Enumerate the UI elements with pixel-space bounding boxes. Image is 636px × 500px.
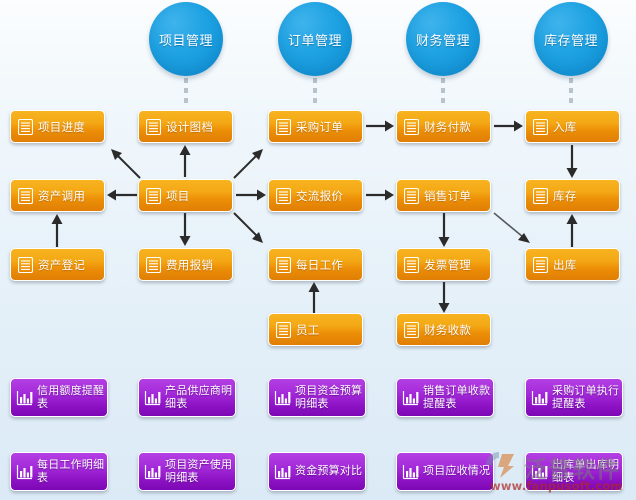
node-label: 资产调用 — [38, 188, 85, 204]
arrow-project-to-purchase — [234, 146, 266, 178]
bar-chart-icon — [402, 390, 419, 406]
node-project[interactable]: 项目 — [138, 179, 233, 212]
node-label: 项目进度 — [38, 119, 85, 135]
module-circle-label: 订单管理 — [288, 30, 342, 49]
document-icon — [276, 188, 291, 204]
node-label: 费用报销 — [166, 257, 213, 273]
document-icon — [404, 257, 419, 273]
report-product-supplier-detail[interactable]: 产品供应商明细表 — [138, 378, 236, 417]
document-icon — [404, 119, 419, 135]
report-daily-work-detail[interactable]: 每日工作明细表 — [10, 452, 108, 491]
node-employee[interactable]: 员工 — [268, 313, 363, 346]
bar-chart-icon — [531, 390, 548, 406]
arrow-assetreg-to-assetuse — [50, 214, 64, 247]
document-icon — [404, 188, 419, 204]
report-label: 采购订单执行提醒表 — [552, 385, 622, 410]
dotted-connector-4 — [569, 78, 573, 108]
report-purchase-order-execution-reminder[interactable]: 采购订单执行提醒表 — [525, 378, 623, 417]
module-circle-order[interactable]: 订单管理 — [278, 2, 352, 76]
node-purchase-order[interactable]: 采购订单 — [268, 110, 363, 143]
node-label: 财务付款 — [424, 119, 471, 135]
report-project-asset-usage-detail[interactable]: 项目资产使用明细表 — [138, 452, 236, 491]
arrow-employee-to-dailywork — [307, 282, 321, 313]
node-label: 库存 — [553, 188, 577, 204]
module-circle-finance[interactable]: 财务管理 — [406, 2, 480, 76]
node-label: 采购订单 — [296, 119, 343, 135]
document-icon — [18, 119, 33, 135]
node-label: 发票管理 — [424, 257, 471, 273]
arrow-project-to-assetuse — [107, 188, 137, 202]
report-fund-budget-comparison[interactable]: 资金预算对比 — [268, 452, 366, 491]
arrow-outbound-to-stock — [565, 214, 579, 247]
arrow-project-to-progress — [108, 146, 140, 178]
node-sales-order[interactable]: 销售订单 — [396, 179, 491, 212]
report-label: 信用额度提醒表 — [37, 385, 107, 410]
report-label: 产品供应商明细表 — [165, 385, 235, 410]
node-label: 每日工作 — [296, 257, 343, 273]
bar-chart-icon — [531, 464, 548, 480]
report-label: 项目应收情况 — [423, 465, 493, 478]
document-icon — [18, 188, 33, 204]
report-label: 资金预算对比 — [295, 465, 365, 478]
arrow-salesorder-to-invoice — [437, 213, 451, 247]
dotted-connector-3 — [441, 78, 445, 108]
bar-chart-icon — [274, 390, 291, 406]
bar-chart-icon — [16, 390, 33, 406]
node-stock[interactable]: 库存 — [525, 179, 620, 212]
arrow-project-to-expense — [178, 213, 192, 246]
bar-chart-icon — [402, 464, 419, 480]
bar-chart-icon — [144, 390, 161, 406]
report-sales-order-receipt-reminder[interactable]: 销售订单收款提醒表 — [396, 378, 494, 417]
report-label: 出库单出库明细表 — [552, 459, 622, 484]
report-credit-limit-reminder[interactable]: 信用额度提醒表 — [10, 378, 108, 417]
module-circle-project[interactable]: 项目管理 — [149, 2, 223, 76]
bar-chart-icon — [16, 464, 33, 480]
report-project-fund-budget-detail[interactable]: 项目资金预算明细表 — [268, 378, 366, 417]
arrow-salesorder-to-outbound — [494, 213, 534, 247]
node-label: 出库 — [553, 257, 577, 273]
document-icon — [146, 257, 161, 273]
node-inbound[interactable]: 入库 — [525, 110, 620, 143]
report-label: 项目资产使用明细表 — [165, 459, 235, 484]
arrow-project-to-design — [178, 145, 192, 177]
node-invoice-management[interactable]: 发票管理 — [396, 248, 491, 281]
document-icon — [533, 188, 548, 204]
arrow-invoice-to-receipt — [437, 282, 451, 313]
node-outbound[interactable]: 出库 — [525, 248, 620, 281]
dotted-connector-1 — [184, 78, 188, 108]
node-label: 员工 — [296, 322, 320, 338]
node-asset-allocation[interactable]: 资产调用 — [10, 179, 105, 212]
report-outbound-note-detail[interactable]: 出库单出库明细表 — [525, 452, 623, 491]
dotted-connector-2 — [313, 78, 317, 108]
node-finance-payment[interactable]: 财务付款 — [396, 110, 491, 143]
report-label: 每日工作明细表 — [37, 459, 107, 484]
node-project-progress[interactable]: 项目进度 — [10, 110, 105, 143]
node-quotation[interactable]: 交流报价 — [268, 179, 363, 212]
node-label: 设计图档 — [166, 119, 213, 135]
bar-chart-icon — [274, 464, 291, 480]
node-expense-reimbursement[interactable]: 费用报销 — [138, 248, 233, 281]
node-daily-work[interactable]: 每日工作 — [268, 248, 363, 281]
arrow-payment-to-inbound — [494, 119, 523, 133]
document-icon — [533, 257, 548, 273]
document-icon — [18, 257, 33, 273]
node-label: 交流报价 — [296, 188, 343, 204]
module-circle-inventory[interactable]: 库存管理 — [534, 2, 608, 76]
arrow-project-to-dailywork — [234, 213, 266, 246]
node-finance-receipt[interactable]: 财务收款 — [396, 313, 491, 346]
node-design-doc[interactable]: 设计图档 — [138, 110, 233, 143]
module-circle-label: 财务管理 — [416, 30, 470, 49]
document-icon — [276, 322, 291, 338]
node-asset-registration[interactable]: 资产登记 — [10, 248, 105, 281]
document-icon — [276, 257, 291, 273]
document-icon — [146, 119, 161, 135]
node-label: 销售订单 — [424, 188, 471, 204]
module-circle-label: 项目管理 — [159, 30, 213, 49]
node-label: 财务收款 — [424, 322, 471, 338]
document-icon — [404, 322, 419, 338]
report-label: 项目资金预算明细表 — [295, 385, 365, 410]
document-icon — [276, 119, 291, 135]
module-circle-label: 库存管理 — [544, 30, 598, 49]
arrow-purchase-to-payment — [366, 119, 394, 133]
arrow-quote-to-salesorder — [366, 188, 394, 202]
node-label: 入库 — [553, 119, 577, 135]
document-icon — [533, 119, 548, 135]
report-project-receivable-status[interactable]: 项目应收情况 — [396, 452, 494, 491]
bar-chart-icon — [144, 464, 161, 480]
flow-diagram-canvas: 项目管理 订单管理 财务管理 库存管理 — [0, 0, 636, 500]
arrow-project-to-quote — [236, 188, 266, 202]
arrow-inbound-to-stock — [565, 145, 579, 178]
report-label: 销售订单收款提醒表 — [423, 385, 493, 410]
document-icon — [146, 188, 161, 204]
node-label: 项目 — [166, 188, 190, 204]
node-label: 资产登记 — [38, 257, 85, 273]
